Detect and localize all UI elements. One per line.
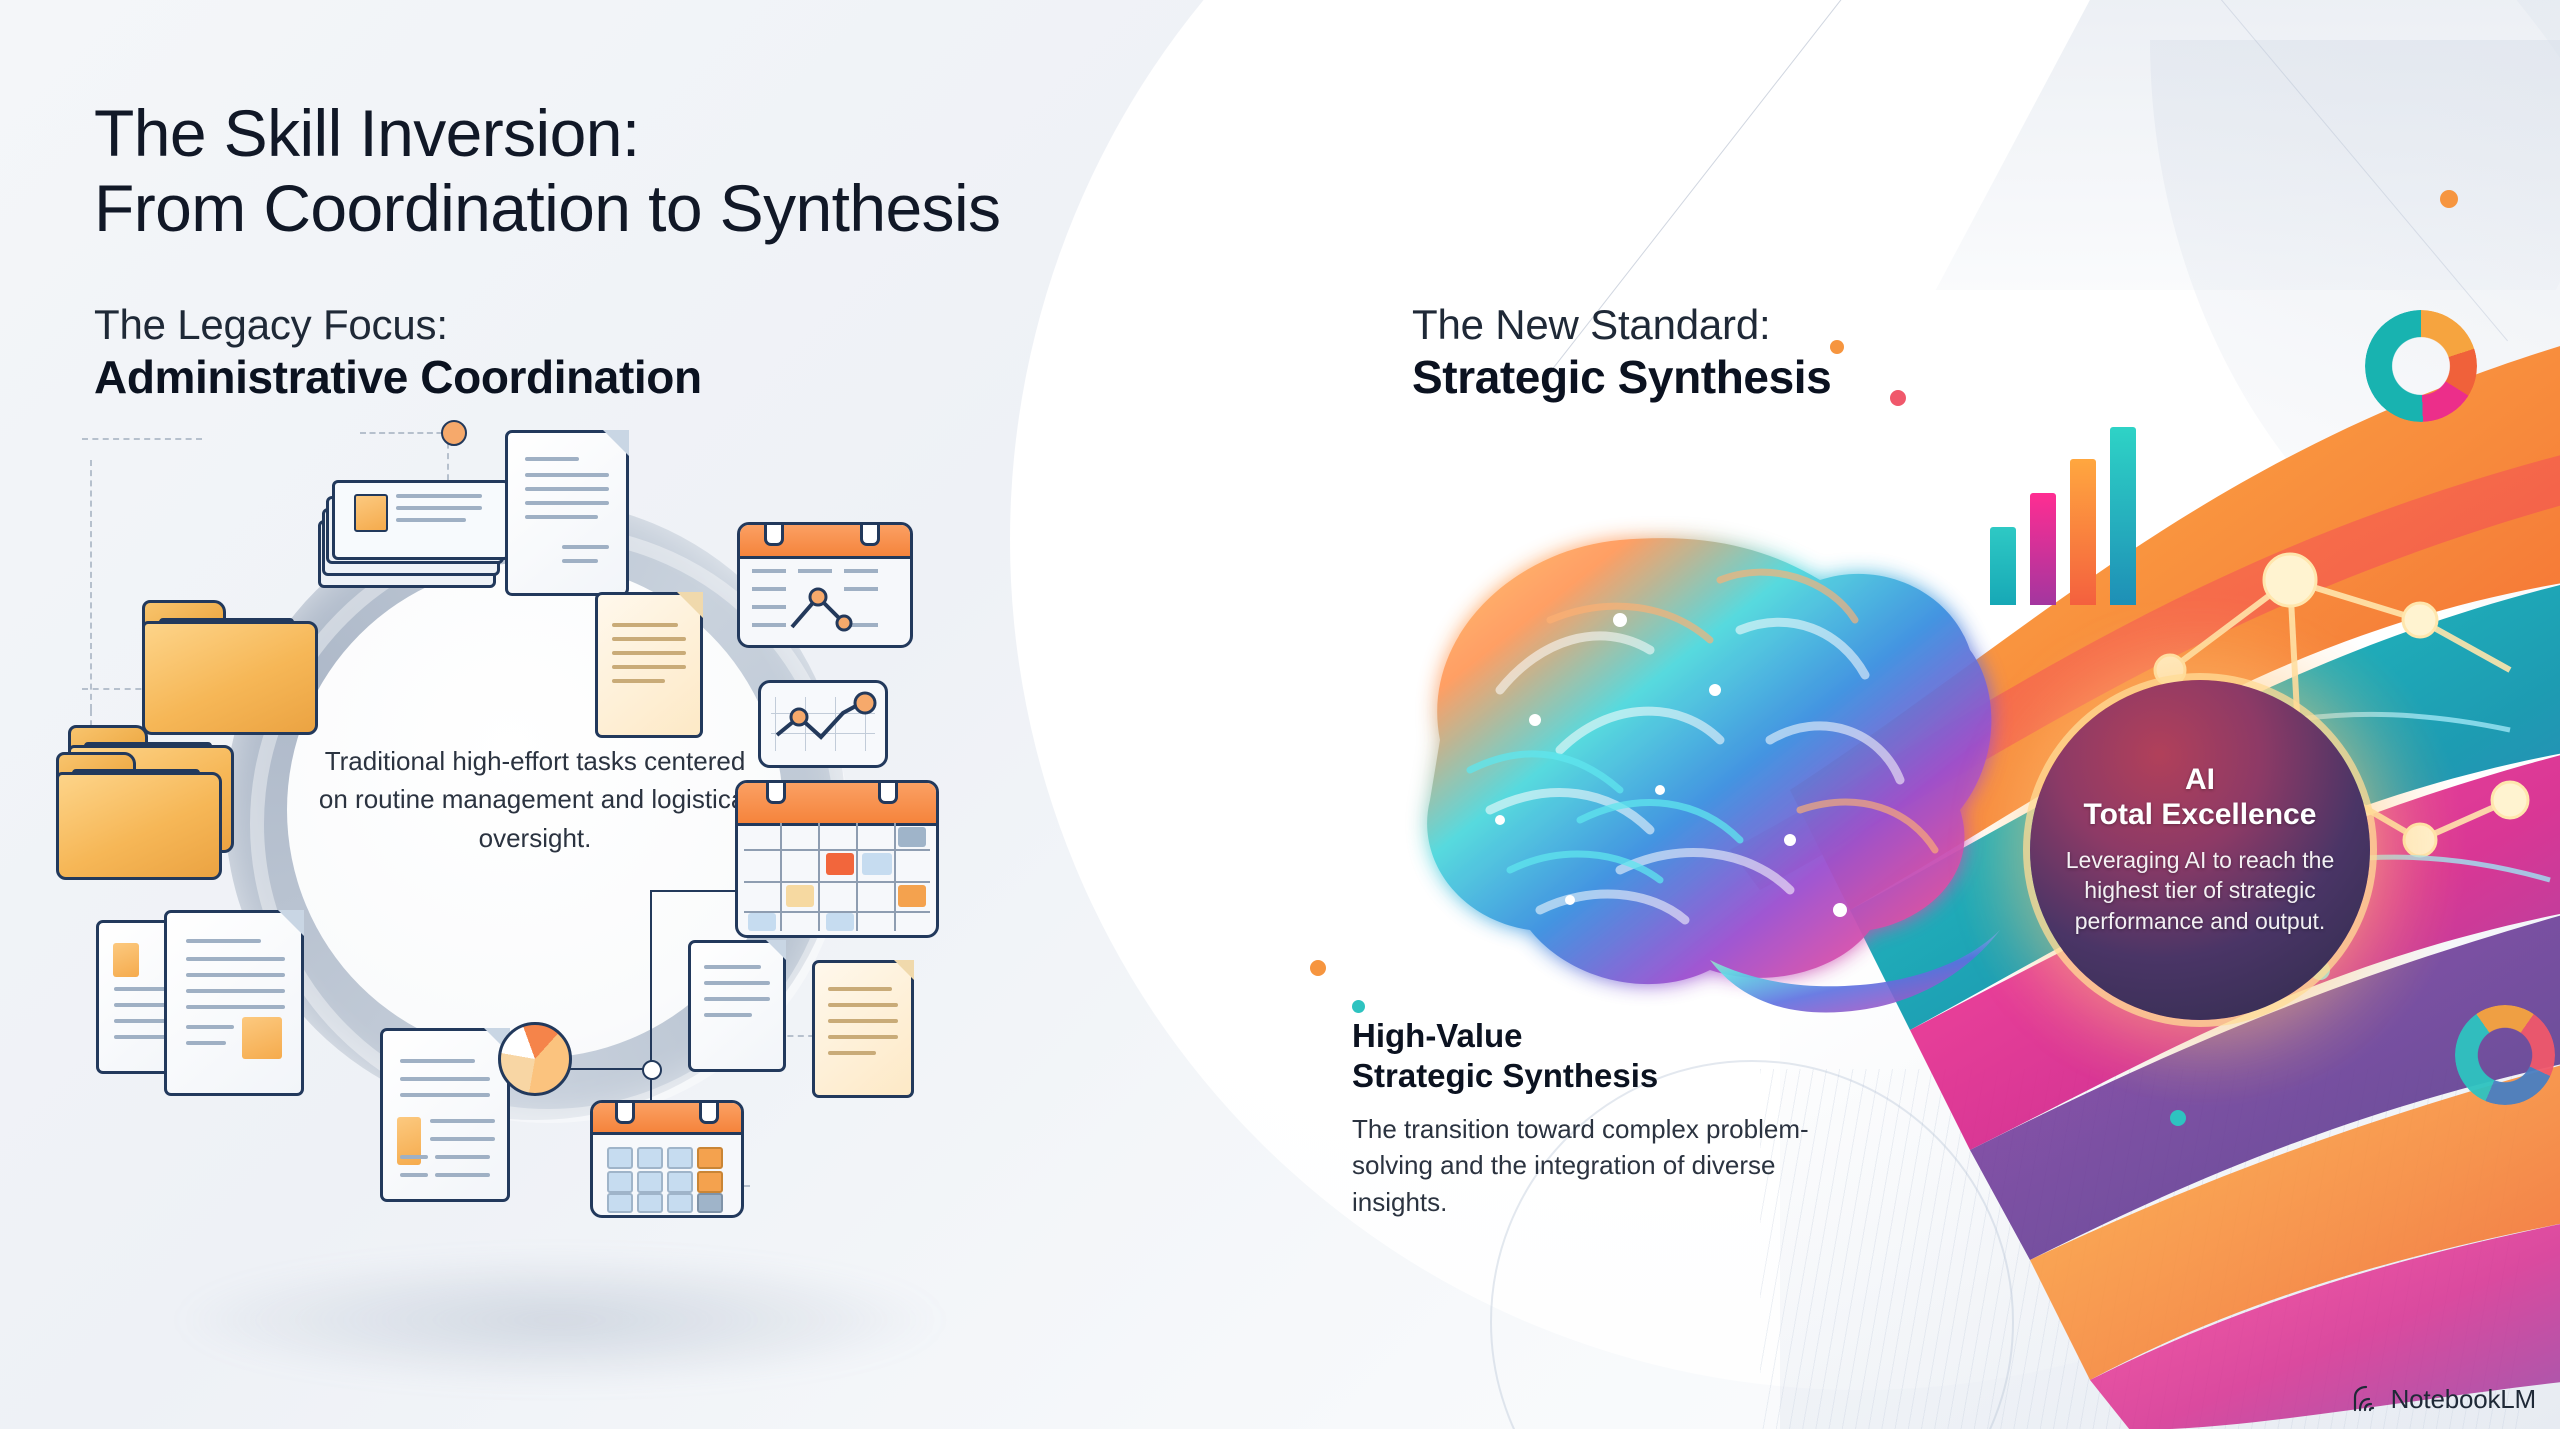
- document-bottom-icon: [380, 1028, 510, 1202]
- page-title-line-1: The Skill Inversion:: [94, 96, 640, 170]
- connector-line-vertical: [650, 890, 652, 1068]
- left-illustration-shadow: [180, 1255, 940, 1385]
- line-chart-card-icon: [758, 680, 888, 768]
- connector-node-white: [642, 1060, 662, 1080]
- document-cream-right-icon: [812, 960, 914, 1098]
- page-title-line-2: From Coordination to Synthesis: [94, 171, 1494, 246]
- callout-heading-line-2: Strategic Synthesis: [1352, 1057, 1658, 1094]
- notebooklm-spiral-icon: [2351, 1385, 2381, 1415]
- brain-icon: [1320, 490, 2020, 1050]
- document-cream-icon: [595, 592, 703, 738]
- watermark-label: NotebookLM: [2391, 1384, 2536, 1415]
- connector-node-orange: [441, 420, 467, 446]
- legacy-column-header: The Legacy Focus: Administrative Coordin…: [94, 300, 702, 405]
- folder-icon: [142, 600, 312, 735]
- document-right-small-icon: [688, 940, 786, 1072]
- calendar-grid-icon: [735, 780, 939, 938]
- dashed-connector-left-top: [82, 438, 202, 440]
- legacy-heading: Administrative Coordination: [94, 350, 702, 405]
- document-icon: [505, 430, 629, 596]
- callout-heading-line-1: High-Value: [1352, 1017, 1523, 1054]
- badge-title-line-1: AI: [2185, 763, 2215, 796]
- ai-total-excellence-badge: AI Total Excellence Leveraging AI to rea…: [2030, 680, 2370, 1020]
- strategic-synthesis-illustration: AI Total Excellence Leveraging AI to rea…: [1290, 150, 2560, 1429]
- spark-teal-bottom: [2170, 1110, 2186, 1126]
- calendar-small-icon: [590, 1100, 744, 1218]
- document-stack-icon: [164, 910, 304, 1096]
- stacked-documents-icon: [318, 478, 498, 598]
- pie-chart-icon: [498, 1022, 572, 1096]
- dashed-connector-left: [90, 460, 92, 710]
- badge-title-line-2: Total Excellence: [2084, 798, 2317, 831]
- spark-orange-top: [2440, 190, 2458, 208]
- callout-body: The transition toward complex problem-so…: [1352, 1111, 1822, 1222]
- spark-orange-left: [1830, 340, 1844, 354]
- high-value-callout: High-Value Strategic Synthesis The trans…: [1352, 1016, 1822, 1221]
- page-title: The Skill Inversion: From Coordination t…: [94, 96, 1494, 245]
- spark-red: [1890, 390, 1906, 406]
- callout-heading: High-Value Strategic Synthesis: [1352, 1016, 1822, 1097]
- spark-orange: [1310, 960, 1326, 976]
- connector-line-upper: [650, 890, 742, 892]
- spark-teal: [1352, 1000, 1365, 1013]
- notebooklm-watermark: NotebookLM: [2351, 1384, 2536, 1415]
- legacy-kicker: The Legacy Focus:: [94, 300, 702, 350]
- legacy-ring-caption: Traditional high-effort tasks centered o…: [315, 742, 755, 857]
- administrative-coordination-illustration: Traditional high-effort tasks centered o…: [90, 460, 920, 1270]
- folder-stack-front-icon: [56, 752, 216, 880]
- badge-body: Leveraging AI to reach the highest tier …: [2064, 845, 2336, 937]
- slide-canvas: The Skill Inversion: From Coordination t…: [0, 0, 2560, 1429]
- dashed-connector-top: [360, 432, 452, 434]
- calendar-chart-icon: [737, 522, 913, 648]
